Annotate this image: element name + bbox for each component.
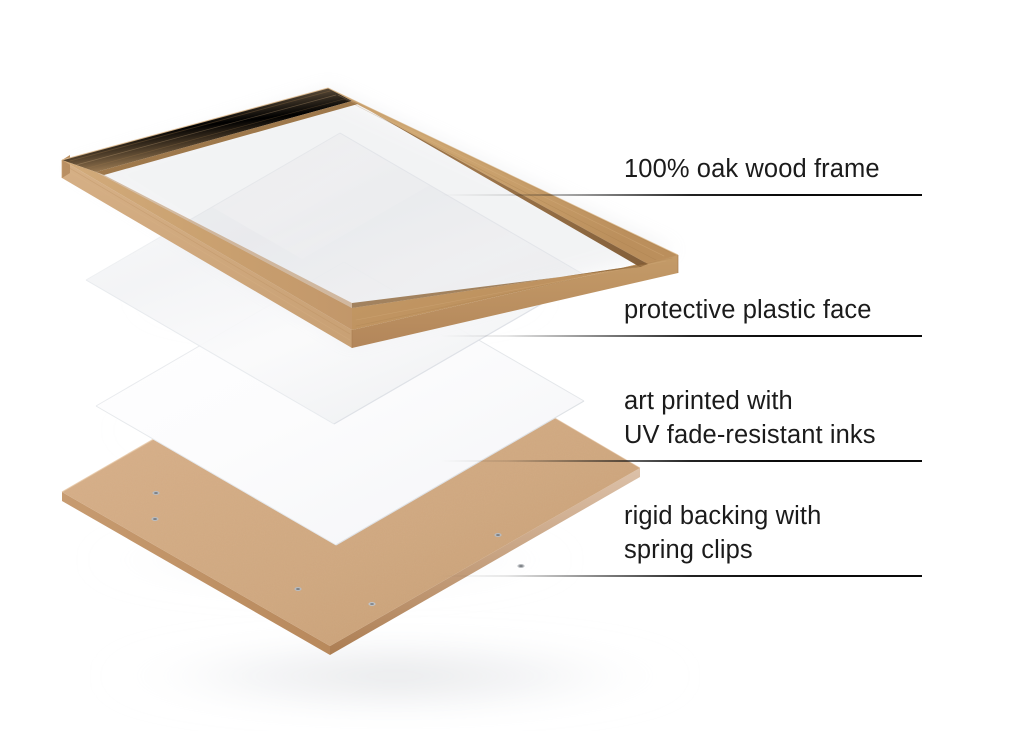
leader-line-backing [440,575,922,577]
callout-backing: rigid backing with spring clips [440,0,922,577]
callout-label-backing: rigid backing with spring clips [624,499,821,567]
exploded-frame-diagram: 100% oak wood frame protective plastic f… [0,0,1024,731]
